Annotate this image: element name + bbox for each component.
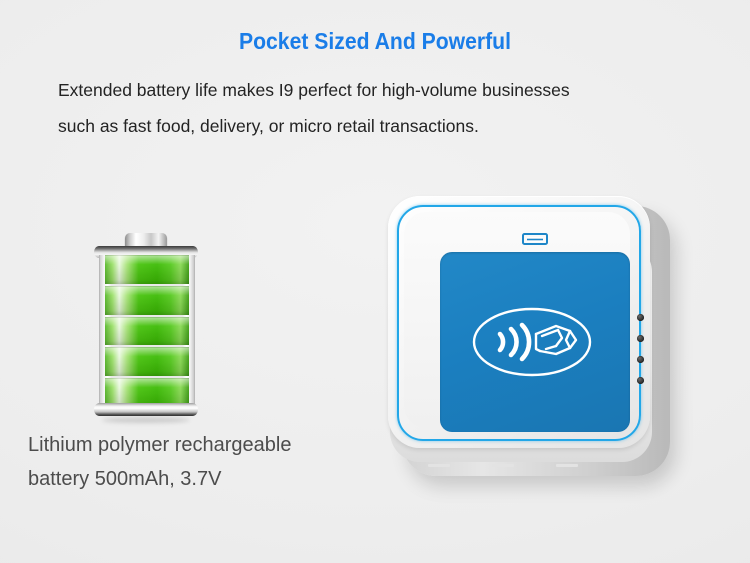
card-reader-device bbox=[388, 196, 676, 486]
battery-caption-line-2: battery 500mAh, 3.7V bbox=[28, 462, 388, 496]
seam-notch bbox=[492, 464, 514, 467]
battery-cell bbox=[105, 347, 189, 376]
product-feature-slide: Pocket Sized And Powerful Extended batte… bbox=[0, 0, 750, 563]
status-led-icon bbox=[637, 377, 644, 384]
status-led-icon bbox=[637, 356, 644, 363]
description-text: Extended battery life makes I9 perfect f… bbox=[58, 72, 678, 144]
device-top-shell bbox=[388, 196, 650, 448]
battery-caption-line-1: Lithium polymer rechargeable bbox=[28, 428, 388, 462]
card-slot-icon bbox=[522, 232, 548, 246]
battery-body bbox=[99, 255, 195, 407]
battery-illustration bbox=[92, 233, 200, 421]
status-led-icon bbox=[637, 335, 644, 342]
status-led-icon bbox=[637, 314, 644, 321]
battery-shadow bbox=[102, 417, 190, 423]
description-line-2: such as fast food, delivery, or micro re… bbox=[58, 108, 678, 144]
device-bezel bbox=[404, 212, 630, 428]
description-line-1: Extended battery life makes I9 perfect f… bbox=[58, 72, 678, 108]
page-title: Pocket Sized And Powerful bbox=[30, 28, 720, 55]
seam-notch bbox=[556, 464, 578, 467]
battery-bottom-rim bbox=[94, 403, 198, 416]
battery-cell bbox=[105, 255, 189, 284]
status-led-indicators bbox=[637, 314, 644, 384]
battery-caption: Lithium polymer rechargeable battery 500… bbox=[28, 428, 388, 496]
battery-cell-stack bbox=[105, 255, 189, 407]
contactless-nfc-icon bbox=[470, 304, 600, 380]
device-bottom-seam bbox=[428, 464, 608, 468]
battery-cell bbox=[105, 317, 189, 346]
battery-cell bbox=[105, 286, 189, 315]
seam-notch bbox=[428, 464, 450, 467]
device-blue-face bbox=[440, 252, 630, 432]
